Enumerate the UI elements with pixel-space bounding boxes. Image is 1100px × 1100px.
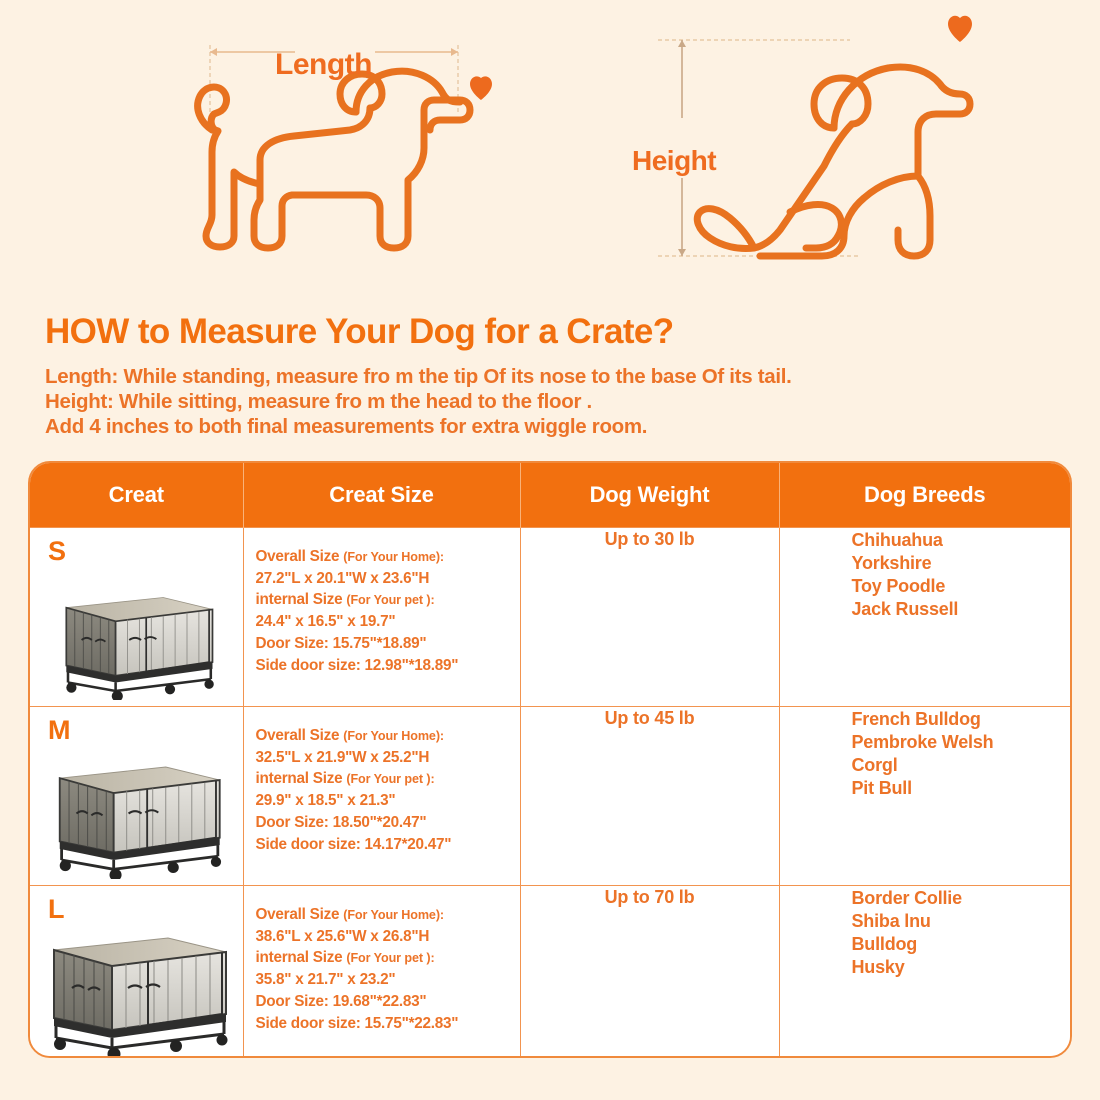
internal-size-note-l: (For Your pet ): — [346, 951, 434, 965]
overall-size-note-l: (For Your Home): — [343, 908, 444, 922]
door-size-m: Door Size: 18.50"*20.47" — [256, 812, 514, 834]
weight-cell-m: Up to 45 lb — [520, 707, 779, 886]
heart-icon — [470, 76, 492, 100]
table-row: L — [30, 886, 1070, 1059]
measurement-illustrations: Length Height — [0, 0, 1100, 300]
overall-size-value-s: 27.2"L x 20.1"W x 23.6"H — [256, 568, 514, 590]
crate-image-cell-s: S — [30, 528, 243, 707]
size-letter-m: M — [48, 715, 71, 746]
table-row: M — [30, 707, 1070, 886]
weight-cell-l: Up to 70 lb — [520, 886, 779, 1059]
internal-size-label-s: internal Size — [256, 591, 343, 608]
height-label: Height — [632, 145, 716, 177]
heart-icon — [948, 16, 972, 42]
overall-size-note-s: (For Your Home): — [343, 550, 444, 564]
overall-size-label-l: Overall Size — [256, 906, 340, 923]
breed-item: Bulldog — [852, 933, 1070, 956]
spec-cell-s: Overall Size (For Your Home): 27.2"L x 2… — [243, 528, 520, 707]
breed-item: Chihuahua — [852, 529, 1070, 552]
side-door-size-l: Side door size: 15.75"*22.83" — [256, 1013, 514, 1035]
instruction-line-wiggle: Add 4 inches to both final measurements … — [45, 414, 1065, 439]
breed-item: Shiba lnu — [852, 910, 1070, 933]
breed-item: Toy Poodle — [852, 575, 1070, 598]
breeds-cell-m: French Bulldog Pembroke Welsh Corgl Pit … — [779, 707, 1070, 886]
internal-size-label-m: internal Size — [256, 770, 343, 787]
internal-size-value-l: 35.8" x 21.7" x 23.2" — [256, 969, 514, 991]
breed-item: Yorkshire — [852, 552, 1070, 575]
length-label: Length — [275, 48, 372, 82]
overall-size-value-l: 38.6"L x 25.6"W x 26.8"H — [256, 926, 514, 948]
internal-size-label-l: internal Size — [256, 949, 343, 966]
standing-dog-outline-icon — [170, 0, 510, 290]
spec-cell-l: Overall Size (For Your Home): 38.6"L x 2… — [243, 886, 520, 1059]
dog-crate-photo-large — [36, 918, 236, 1058]
table-header-row: Creat Creat Size Dog Weight Dog Breeds — [30, 463, 1070, 528]
breed-item: Husky — [852, 956, 1070, 979]
side-door-size-m: Side door size: 14.17*20.47" — [256, 834, 514, 856]
instruction-line-length: Length: While standing, measure fro m th… — [45, 364, 1065, 389]
length-diagram: Length — [170, 0, 510, 290]
overall-size-note-m: (For Your Home): — [343, 729, 444, 743]
crate-size-table: Creat Creat Size Dog Weight Dog Breeds S — [28, 461, 1072, 1058]
height-diagram: Height — [630, 0, 980, 290]
header-dog-weight: Dog Weight — [520, 463, 779, 528]
weight-value-l: Up to 70 lb — [605, 887, 695, 907]
weight-cell-s: Up to 30 lb — [520, 528, 779, 707]
breed-item: Jack Russell — [852, 598, 1070, 621]
internal-size-note-s: (For Your pet ): — [346, 593, 434, 607]
breed-item: French Bulldog — [852, 708, 1070, 731]
instruction-line-height: Height: While sitting, measure fro m the… — [45, 389, 1065, 414]
internal-size-value-m: 29.9" x 18.5" x 21.3" — [256, 790, 514, 812]
breed-item: Corgl — [852, 754, 1070, 777]
spec-cell-m: Overall Size (For Your Home): 32.5"L x 2… — [243, 707, 520, 886]
overall-size-label-m: Overall Size — [256, 727, 340, 744]
breeds-cell-l: Border Collie Shiba lnu Bulldog Husky — [779, 886, 1070, 1059]
dog-crate-photo-medium — [43, 748, 229, 879]
breed-item: Border Collie — [852, 887, 1070, 910]
table-row: S — [30, 528, 1070, 707]
crate-image-cell-m: M — [30, 707, 243, 886]
overall-size-label-s: Overall Size — [256, 548, 340, 565]
internal-size-note-m: (For Your pet ): — [346, 772, 434, 786]
page-title: HOW to Measure Your Dog for a Crate? — [45, 312, 1065, 352]
side-door-size-s: Side door size: 12.98"*18.89" — [256, 655, 514, 677]
dog-crate-photo-small — [51, 580, 221, 700]
door-size-s: Door Size: 15.75"*18.89" — [256, 633, 514, 655]
weight-value-s: Up to 30 lb — [605, 529, 695, 549]
breeds-cell-s: Chihuahua Yorkshire Toy Poodle Jack Russ… — [779, 528, 1070, 707]
weight-value-m: Up to 45 lb — [605, 708, 695, 728]
header-creat-size: Creat Size — [243, 463, 520, 528]
door-size-l: Door Size: 19.68"*22.83" — [256, 991, 514, 1013]
heading-block: HOW to Measure Your Dog for a Crate? Len… — [45, 312, 1065, 439]
header-dog-breeds: Dog Breeds — [779, 463, 1070, 528]
header-creat: Creat — [30, 463, 243, 528]
size-letter-l: L — [48, 894, 65, 925]
breed-item: Pit Bull — [852, 777, 1070, 800]
overall-size-value-m: 32.5"L x 21.9"W x 25.2"H — [256, 747, 514, 769]
internal-size-value-s: 24.4" x 16.5" x 19.7" — [256, 611, 514, 633]
size-letter-s: S — [48, 536, 66, 567]
breed-item: Pembroke Welsh — [852, 731, 1070, 754]
crate-image-cell-l: L — [30, 886, 243, 1059]
